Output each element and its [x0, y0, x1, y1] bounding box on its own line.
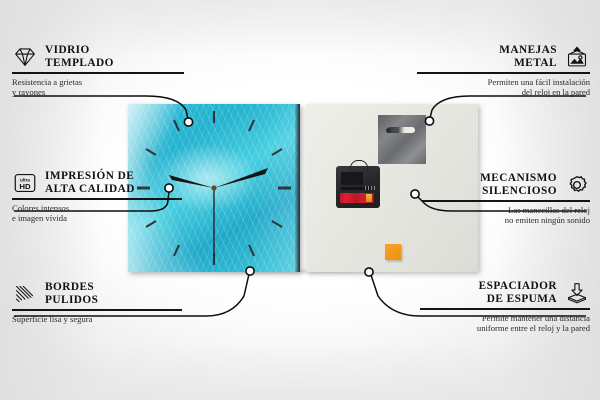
feature-title-2: METAL: [514, 57, 557, 69]
feature-description: Resistencia a grietas y rayones: [12, 77, 187, 98]
feature-title-1: BORDES: [45, 281, 94, 293]
feature-title-1: ESPACIADOR: [479, 280, 557, 292]
feature-title-2: TEMPLADO: [45, 57, 114, 69]
feature-mecanismo-silencioso: MECANISMO SILENCIOSO Las manecillas del …: [420, 172, 590, 225]
feature-title-2: PULIDOS: [45, 294, 98, 306]
svg-text:HD: HD: [19, 182, 31, 191]
diamond-icon: [12, 46, 38, 68]
feature-rule: [12, 198, 182, 199]
feature-title-1: IMPRESIÓN DE: [45, 170, 134, 182]
feature-description: Permite mantener una distancia uniforme …: [418, 313, 590, 334]
ultra-hd-icon: ultra HD: [12, 172, 38, 194]
foam-spacer-icon: [564, 282, 590, 304]
feature-title-1: MANEJAS: [499, 44, 557, 56]
feature-vidrio-templado: VIDRIO TEMPLADO Resistencia a grietas y …: [12, 44, 187, 97]
feature-description: Las manecillas del reloj no emiten ningú…: [420, 205, 590, 226]
gear-icon: [564, 174, 590, 196]
polished-edge-icon: [12, 283, 38, 305]
infographic-canvas: VIDRIO TEMPLADO Resistencia a grietas y …: [0, 0, 600, 400]
connector-dot-bordes: [246, 267, 254, 275]
feature-description: Permiten una fácil instalación del reloj…: [415, 77, 590, 98]
feature-description: Superficie lisa y segura: [12, 314, 184, 324]
feature-impresion-alta-calidad: ultra HD IMPRESIÓN DE ALTA CALIDAD Color…: [12, 170, 184, 223]
feature-title-2: ALTA CALIDAD: [45, 183, 135, 195]
feature-espaciador-de-espuma: ESPACIADOR DE ESPUMA Permite mantener un…: [418, 280, 590, 333]
feature-title-1: MECANISMO: [480, 172, 557, 184]
wall-frame-icon: [564, 46, 590, 68]
feature-rule: [12, 72, 184, 73]
feature-title-2: SILENCIOSO: [482, 185, 557, 197]
connector-dot-espaciador: [365, 268, 373, 276]
feature-rule: [422, 200, 590, 201]
feature-description: Colores intensos e imagen vívida: [12, 203, 184, 224]
feature-rule: [12, 309, 182, 310]
connector-dot-mecanismo: [411, 190, 419, 198]
feature-bordes-pulidos: BORDES PULIDOS Superficie lisa y segura: [12, 281, 184, 324]
feature-manejas-metal: MANEJAS METAL Permiten una fácil instala…: [415, 44, 590, 97]
feature-title-2: DE ESPUMA: [487, 293, 557, 305]
connector-dot-vidrio: [184, 118, 192, 126]
feature-rule: [420, 308, 590, 309]
connector-dot-manejas: [425, 117, 433, 125]
feature-rule: [417, 72, 590, 73]
feature-title-1: VIDRIO: [45, 44, 90, 56]
